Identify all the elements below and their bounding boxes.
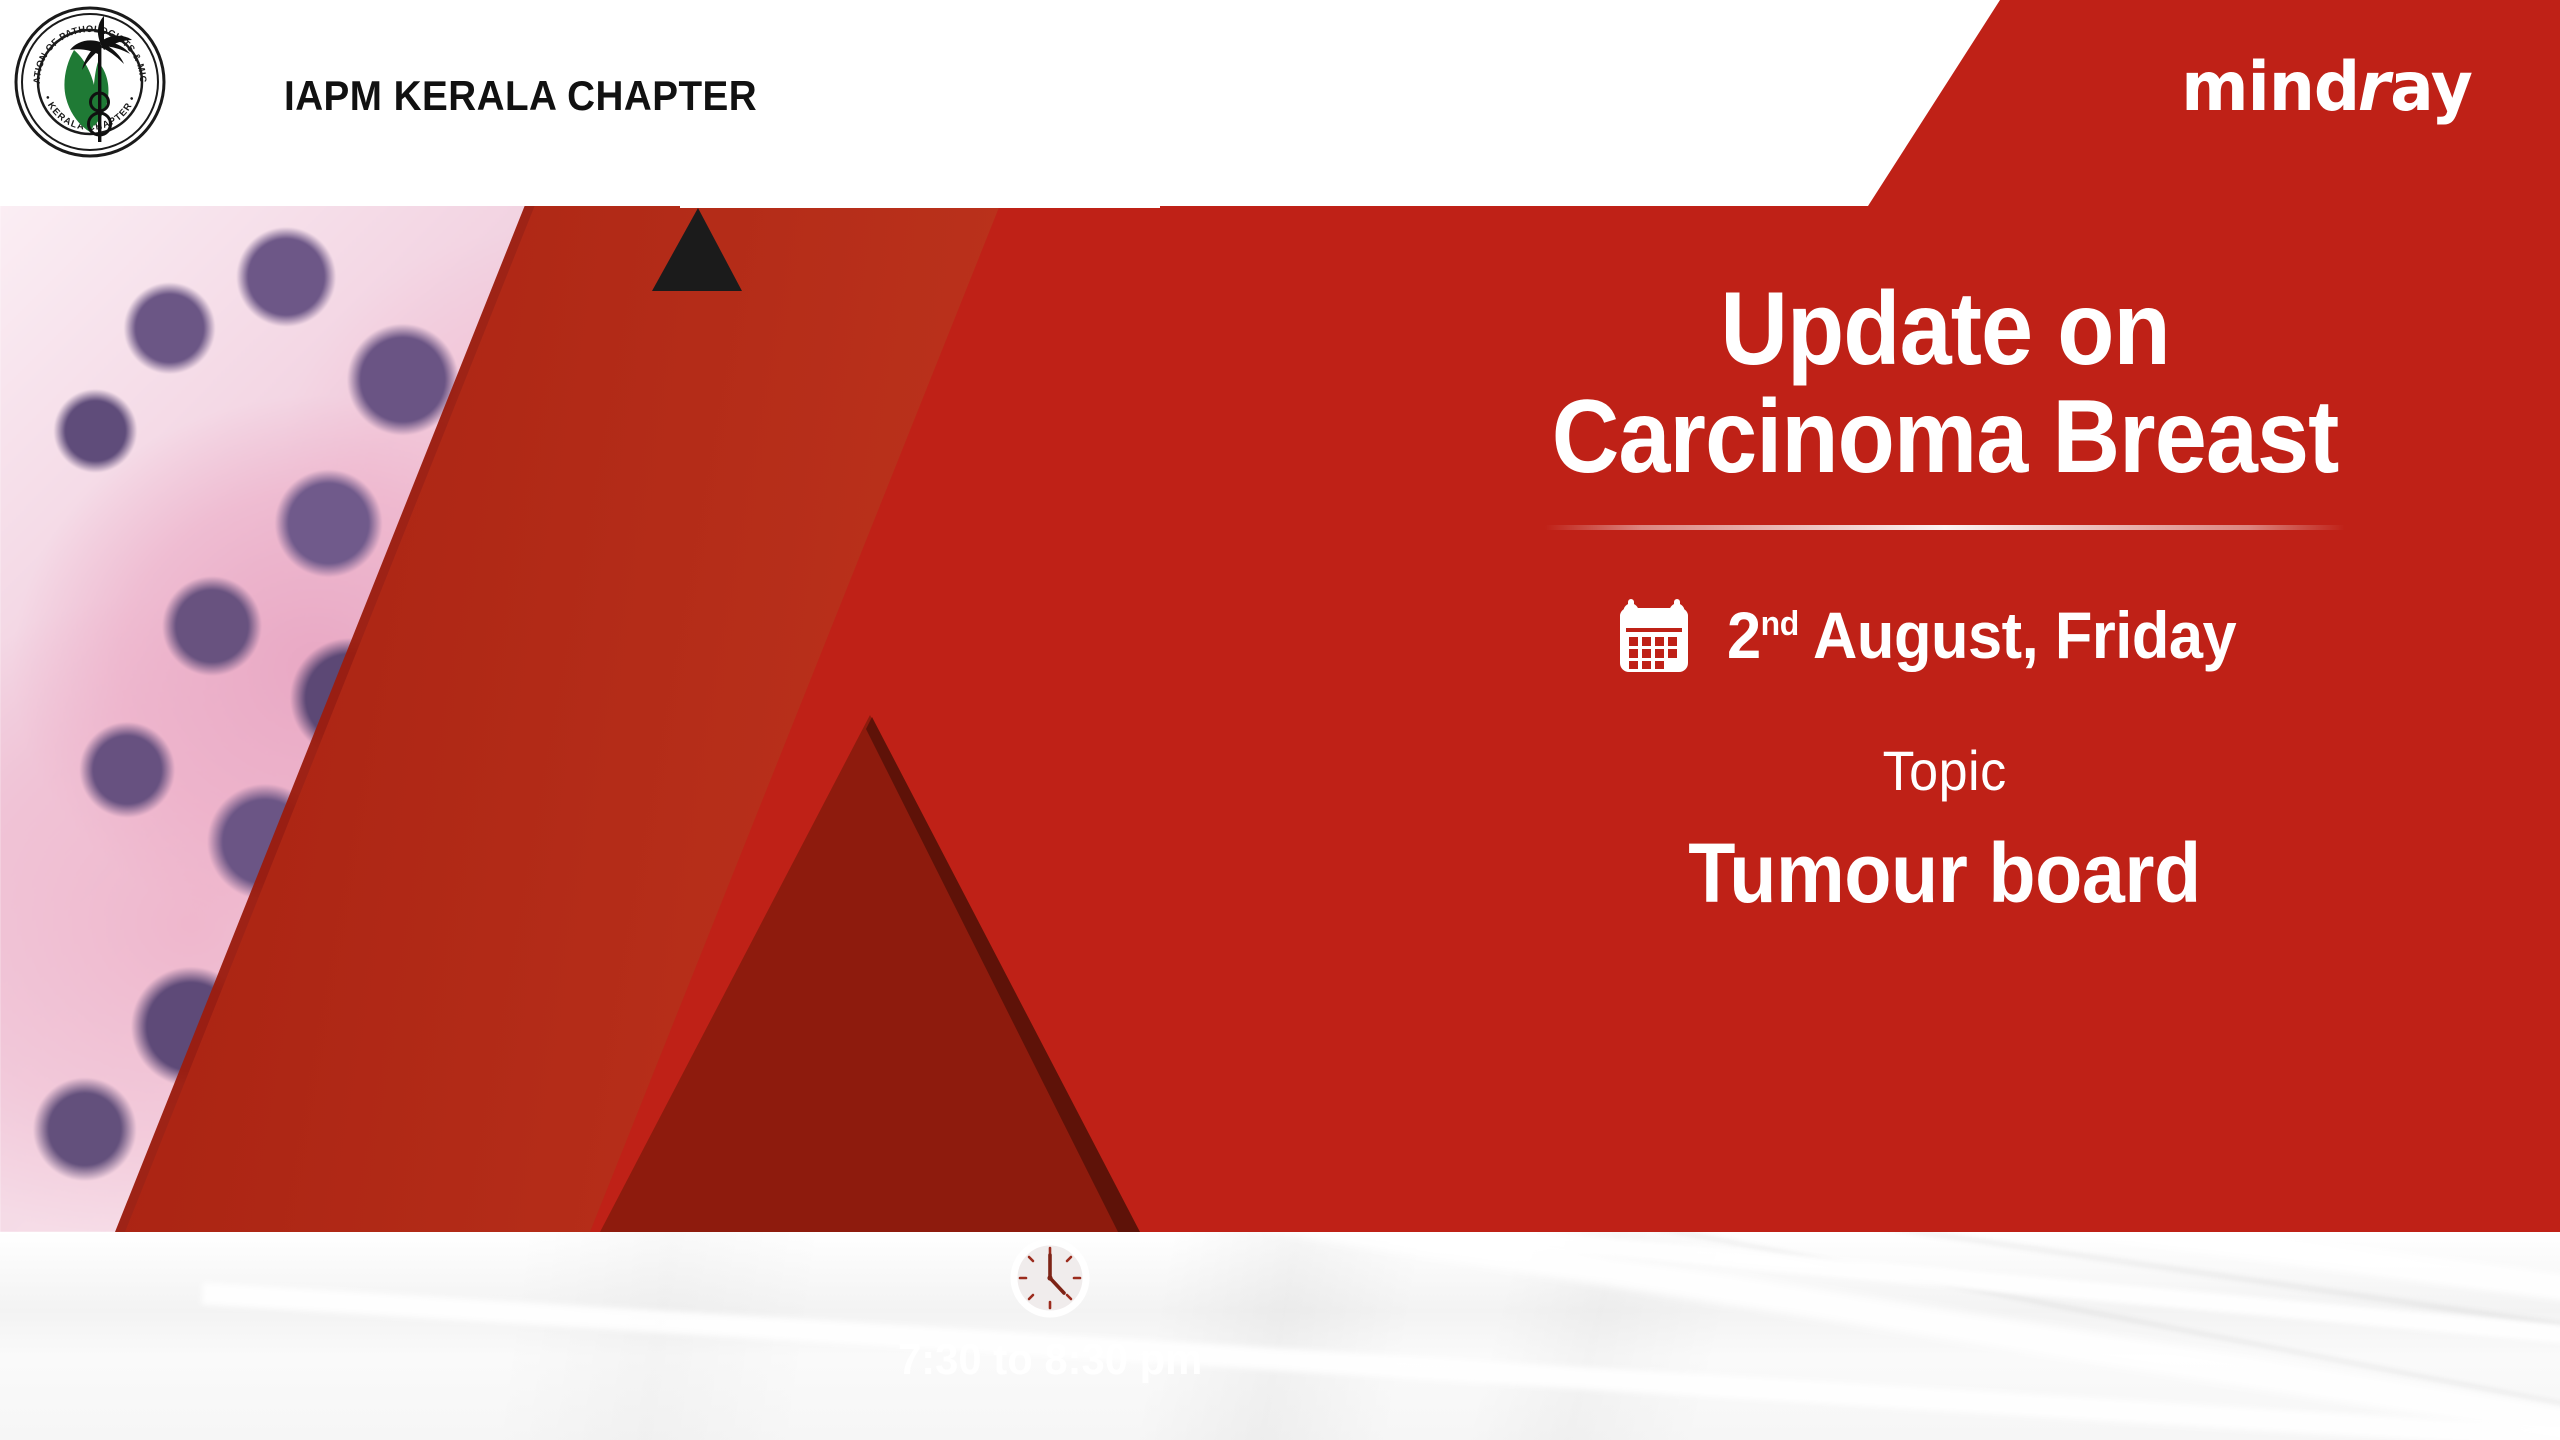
event-date-ordinal: nd [1761, 605, 1799, 643]
seal-icon: INDIAN ASSOCIATION OF PATHOLOGISTS & MIC… [14, 6, 166, 158]
topic-label: Topic [1883, 738, 2007, 803]
event-time: 7:30 to 8:30 pm [898, 1335, 1202, 1385]
footer-swoosh-1 [568, 1232, 2560, 1338]
event-info-panel: Update on Carcinoma Breast [1330, 205, 2560, 1232]
event-title-line-1: Update on [1552, 275, 2339, 383]
mindray-logo: mindray [2181, 48, 2472, 127]
event-date-day: 2 [1727, 598, 1761, 672]
event-title: Update on Carcinoma Breast [1552, 275, 2339, 491]
event-time-block: 7:30 to 8:30 pm [880, 1235, 1220, 1385]
footer-swoosh-2 [404, 1232, 2560, 1373]
event-date-rest: August, Friday [1799, 598, 2236, 672]
footer-swoosh-shadow-2 [1116, 1232, 2560, 1440]
header-white-notch [680, 118, 1160, 208]
topic-value: Tumour board [1689, 825, 2201, 922]
footer-decorative-band [0, 1232, 2560, 1440]
organization-title: IAPM KERALA CHAPTER [284, 72, 757, 120]
clock-icon [1007, 1235, 1093, 1321]
title-divider [1545, 525, 2345, 530]
event-date-row: 2nd August, Friday [1615, 592, 2275, 678]
mindray-part-a: mind [2181, 48, 2359, 127]
footer-swoosh-4 [202, 1283, 2560, 1440]
event-title-line-2: Carcinoma Breast [1552, 383, 2339, 491]
calendar-icon [1615, 592, 1693, 678]
iapm-kerala-chapter-seal: INDIAN ASSOCIATION OF PATHOLOGISTS & MIC… [14, 6, 166, 158]
banner-canvas: INDIAN ASSOCIATION OF PATHOLOGISTS & MIC… [0, 0, 2560, 1440]
mindray-part-b: ay [2390, 48, 2472, 127]
event-date: 2nd August, Friday [1727, 597, 2236, 673]
